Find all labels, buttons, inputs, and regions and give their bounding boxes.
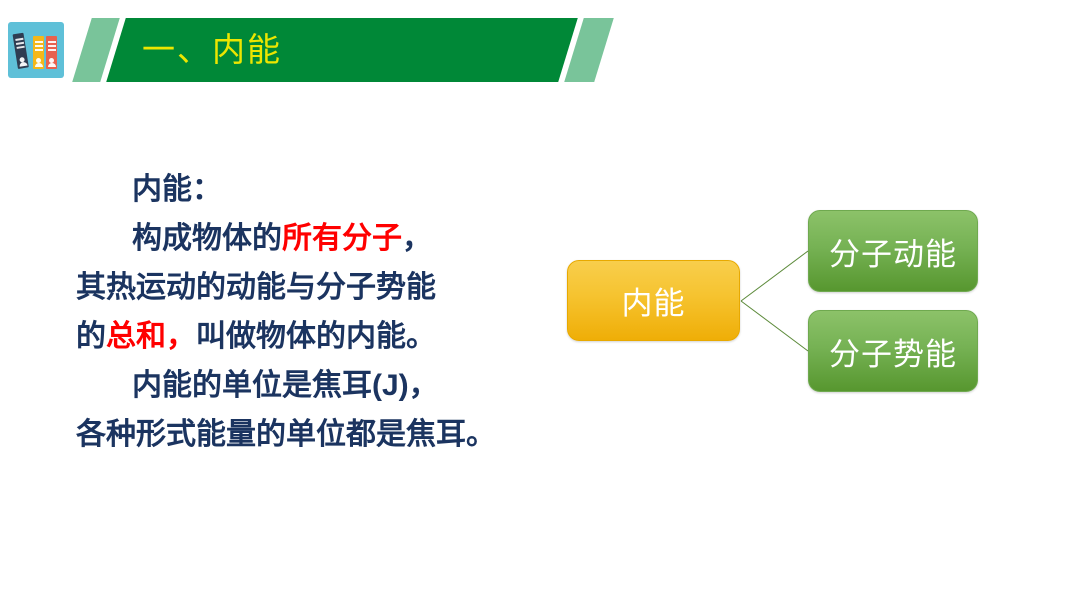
text-run-highlight: 总和， (106, 320, 196, 353)
text-run: 的 (76, 320, 106, 353)
books-icon (8, 22, 64, 78)
text-run: 内能的单位是焦耳(J)， (132, 369, 439, 402)
text-run: 内能： (132, 173, 222, 206)
text-run-highlight: 所有分子 (282, 222, 402, 255)
slide-header-banner: 一、内能 (0, 18, 1066, 82)
book-red-icon (46, 36, 57, 69)
paragraph-unit-line-2: 各种形式能量的单位都是焦耳。 (76, 411, 546, 458)
text-run: 叫做物体的内能。 (196, 320, 436, 353)
paragraph-definition-line-1: 构成物体的所有分子， (76, 215, 546, 262)
diagram-node-branch-potential[interactable]: 分子势能 (808, 310, 978, 392)
section-title: 一、内能 (142, 18, 282, 82)
slide-canvas: 一、内能 内能： 构成物体的所有分子， 其热运动的动能与分子势能 的总和，叫做物… (0, 0, 1066, 600)
diagram-node-root[interactable]: 内能 (567, 260, 740, 341)
text-run: 各种形式能量的单位都是焦耳。 (76, 418, 496, 451)
text-run: ， (402, 222, 432, 255)
body-text-block: 内能： 构成物体的所有分子， 其热运动的动能与分子势能 的总和，叫做物体的内能。… (76, 166, 546, 458)
paragraph-unit-line-1: 内能的单位是焦耳(J)， (76, 362, 546, 409)
diagram-node-branch-kinetic[interactable]: 分子动能 (808, 210, 978, 292)
paragraph-heading: 内能： (76, 166, 546, 213)
text-run: 其热运动的动能与分子势能 (76, 271, 436, 304)
concept-diagram: 内能 分子动能 分子势能 (556, 196, 996, 401)
paragraph-definition-line-2: 其热运动的动能与分子势能 (76, 264, 546, 311)
text-run: 构成物体的 (132, 222, 282, 255)
book-yellow-icon (33, 36, 44, 69)
paragraph-definition-line-3: 的总和，叫做物体的内能。 (76, 313, 546, 360)
book-navy-icon (13, 33, 29, 69)
